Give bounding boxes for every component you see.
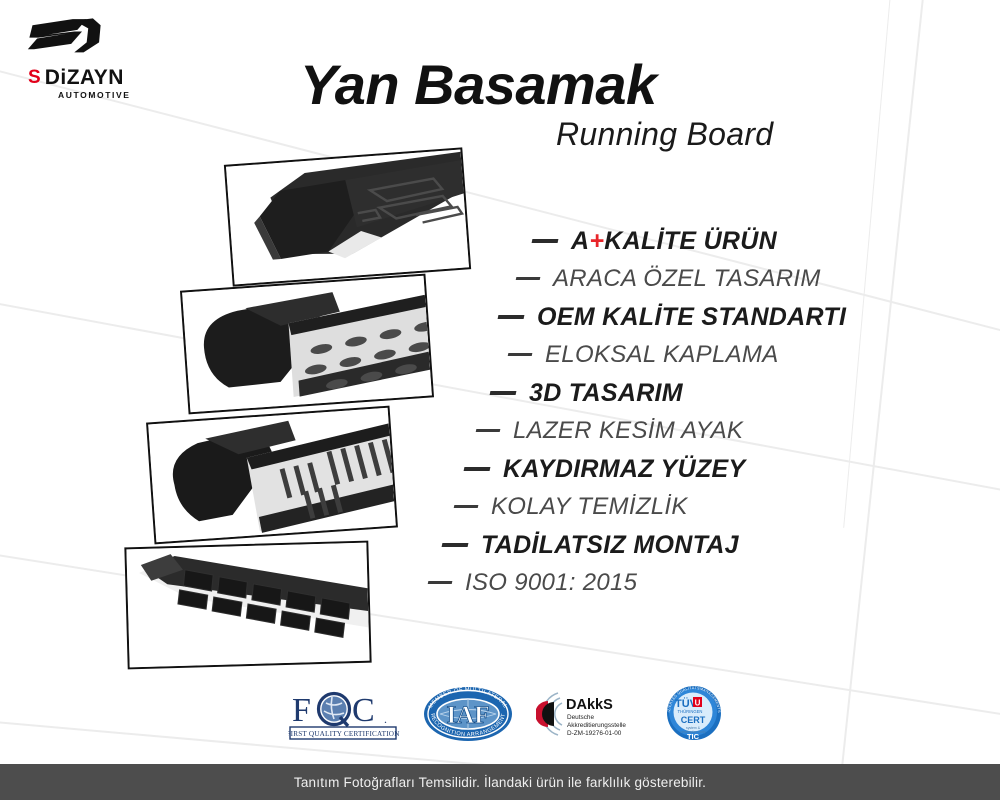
feature-label: TADİLATSIZ MONTAJ [481, 531, 739, 560]
bullet-dash-icon [464, 467, 491, 471]
svg-text:C: C [352, 692, 375, 729]
feature-item: ARACA ÖZEL TASARIM [420, 260, 940, 298]
silver-oval-studs-board-graphic [182, 276, 432, 413]
product-image-2 [180, 274, 434, 415]
svg-text:DAkkS: DAkkS [566, 697, 613, 713]
cert-badge-dakks: DAkkS Deutsche Akkreditierungsstelle D-Z… [536, 684, 640, 744]
feature-label: ELOKSAL KAPLAMA [545, 341, 779, 369]
poster-canvas: S DiZAYN AUTOMOTIVE Yan Basamak Running … [0, 0, 1000, 800]
page-subtitle: Running Board [556, 116, 773, 153]
feature-item: 3D TASARIM [420, 374, 940, 412]
feature-item: TADİLATSIZ MONTAJ [420, 526, 940, 564]
feature-item: ISO 9001: 2015 [420, 564, 940, 602]
svg-text:Akkreditierungsstelle: Akkreditierungsstelle [567, 722, 626, 729]
svg-text:F: F [292, 692, 311, 729]
tuv-cert-logo-icon: TÜV U THÜRINGEN CERT system & certificat… [662, 684, 726, 744]
product-image-3 [146, 406, 398, 545]
feature-item: LAZER KESİM AYAK [420, 412, 940, 450]
svg-text:Deutsche: Deutsche [567, 714, 594, 721]
logo-s-letter: S [28, 68, 40, 87]
black-block-tread-board-graphic [126, 543, 369, 668]
footer-disclaimer-text: Tanıtım Fotoğrafları Temsilidir. İlandak… [294, 775, 706, 790]
cert-badge-tuv: TÜV U THÜRINGEN CERT system & certificat… [662, 684, 726, 744]
footer-disclaimer-bar: Tanıtım Fotoğrafları Temsilidir. İlandak… [0, 764, 1000, 800]
bullet-dash-icon [516, 277, 541, 280]
feature-label: A+KALİTE ÜRÜN [571, 227, 777, 256]
product-image-gallery [118, 152, 468, 672]
feature-item: ELOKSAL KAPLAMA [420, 336, 940, 374]
feature-item: KOLAY TEMİZLİK [420, 488, 940, 526]
product-image-4 [124, 541, 371, 670]
bullet-dash-icon [490, 391, 517, 395]
fqc-logo-icon: F C . FIRST QUALITY CERTIFICATION [288, 687, 400, 741]
svg-text:IAF: IAF [446, 702, 489, 729]
bullet-dash-icon [532, 239, 559, 243]
svg-text:.: . [384, 712, 387, 726]
page-title: Yan Basamak [300, 52, 657, 117]
silver-slot-stripes-board-graphic [148, 408, 396, 542]
feature-label: ARACA ÖZEL TASARIM [553, 265, 821, 293]
cert-badge-fqc: F C . FIRST QUALITY CERTIFICATION [288, 684, 400, 744]
feature-item: A+KALİTE ÜRÜN [420, 222, 940, 260]
bullet-dash-icon [428, 581, 453, 584]
feature-plus-highlight: + [589, 227, 604, 255]
svg-text:U: U [695, 699, 701, 708]
feature-label: ISO 9001: 2015 [465, 569, 637, 597]
svg-text:TIC: TIC [687, 732, 700, 741]
bullet-dash-icon [508, 353, 533, 356]
bullet-dash-icon [498, 315, 525, 319]
logo-tagline: AUTOMOTIVE [58, 90, 166, 100]
svg-text:D-ZM-19276-01-00: D-ZM-19276-01-00 [567, 730, 622, 737]
dakks-logo-icon: DAkkS Deutsche Akkreditierungsstelle D-Z… [536, 687, 640, 741]
svg-text:FIRST QUALITY CERTIFICATION: FIRST QUALITY CERTIFICATION [288, 730, 400, 738]
feature-label: KOLAY TEMİZLİK [491, 493, 688, 521]
feature-item: KAYDIRMAZ YÜZEY [420, 450, 940, 488]
feature-label: OEM KALİTE STANDARTI [537, 303, 846, 332]
certification-badges: F C . FIRST QUALITY CERTIFICATION IAF [288, 683, 718, 745]
iaf-logo-icon: IAF MEMBER OF MULTILATERAL RECOGNITION A… [422, 685, 514, 743]
logo-brand-name: DiZAYN [45, 67, 124, 88]
brand-logo: S DiZAYN AUTOMOTIVE [26, 16, 166, 100]
feature-label: LAZER KESİM AYAK [513, 417, 743, 445]
feature-list: A+KALİTE ÜRÜNARACA ÖZEL TASARIMOEM KALİT… [420, 222, 940, 602]
bullet-dash-icon [454, 505, 479, 508]
feature-label: KAYDIRMAZ YÜZEY [503, 455, 745, 484]
svg-text:THÜRINGEN: THÜRINGEN [678, 709, 703, 714]
cert-badge-iaf: IAF MEMBER OF MULTILATERAL RECOGNITION A… [422, 684, 514, 744]
bullet-dash-icon [476, 429, 501, 432]
svg-text:CERT: CERT [681, 715, 706, 725]
bullet-dash-icon [442, 543, 469, 547]
feature-item: OEM KALİTE STANDARTI [420, 298, 940, 336]
feature-label: 3D TASARIM [529, 379, 683, 408]
s-dizayn-logo-icon [26, 16, 104, 64]
